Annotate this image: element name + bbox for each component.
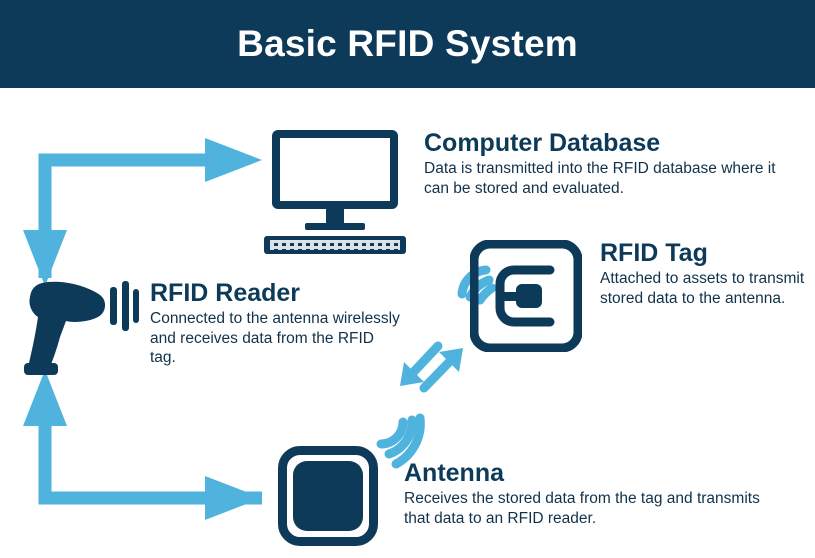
computer-database-desc: Data is transmitted into the RFID databa…	[424, 159, 799, 198]
antenna-fill	[293, 461, 363, 531]
diagram-canvas: Computer Database Data is transmitted in…	[0, 88, 815, 558]
rfid-tag-title: RFID Tag	[600, 240, 810, 266]
antenna-title: Antenna	[404, 460, 784, 486]
desktop-computer-icon	[272, 130, 398, 230]
monitor-neck	[326, 209, 344, 223]
barcode-scanner-icon	[14, 273, 139, 383]
computer-database-title: Computer Database	[424, 130, 799, 156]
rfid-tag-icon	[470, 240, 582, 357]
rfid-tag-label: RFID Tag Attached to assets to transmit …	[600, 240, 810, 308]
page-title: Basic RFID System	[0, 0, 815, 88]
antenna-to-reader-arrow	[23, 370, 262, 520]
rfid-reader-desc: Connected to the antenna wirelessly and …	[150, 309, 400, 367]
computer-database-label: Computer Database Data is transmitted in…	[424, 130, 799, 198]
antenna-icon	[278, 446, 378, 546]
tag-antenna-exchange-arrows	[400, 346, 463, 388]
rfid-tag-desc: Attached to assets to transmit stored da…	[600, 269, 810, 308]
antenna-body	[278, 446, 378, 546]
antenna-signal-waves	[381, 418, 420, 464]
keyboard-icon	[264, 236, 406, 254]
rfid-reader-title: RFID Reader	[150, 280, 400, 306]
monitor-base	[305, 223, 365, 230]
reader-to-computer-arrow	[23, 138, 262, 286]
monitor-screen	[272, 130, 398, 209]
rfid-reader-label: RFID Reader Connected to the antenna wir…	[150, 280, 400, 367]
antenna-desc: Receives the stored data from the tag an…	[404, 489, 784, 528]
header-bar: Basic RFID System	[0, 0, 815, 88]
antenna-label: Antenna Receives the stored data from th…	[404, 460, 784, 528]
